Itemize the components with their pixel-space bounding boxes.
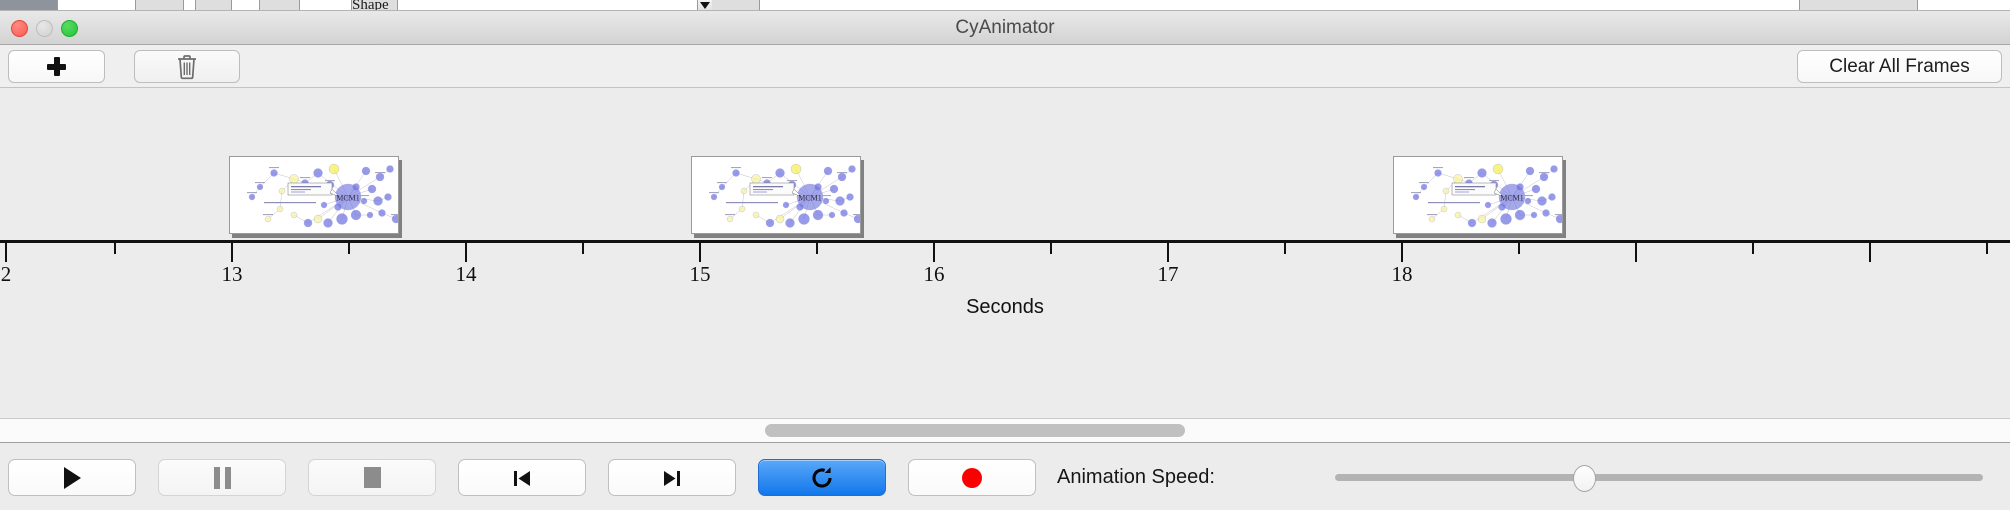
ruler-tick-label: 17 [1158, 262, 1179, 287]
horizontal-scrollbar[interactable] [765, 424, 1185, 437]
ruler-tick-minor [1518, 243, 1520, 254]
loop-icon [809, 465, 835, 491]
frame-thumbnail[interactable]: MCM1 [229, 156, 399, 234]
animation-speed-slider[interactable] [1335, 459, 1983, 496]
toolbar: Clear All Frames [0, 45, 2010, 88]
ruler-tick-minor [1986, 243, 1988, 254]
ruler-tick-minor [1284, 243, 1286, 254]
scroll-track[interactable] [0, 419, 2010, 443]
ruler-tick-major [1401, 243, 1403, 262]
ruler-baseline [0, 240, 2010, 243]
slider-knob[interactable] [1573, 465, 1596, 492]
ruler-tick-label: 2 [1, 262, 12, 287]
trash-icon [176, 54, 198, 80]
ruler-tick-major [699, 243, 701, 262]
skip-back-button[interactable] [458, 459, 586, 496]
axis-title: Seconds [0, 296, 2010, 319]
ruler-tick-label: 13 [222, 262, 243, 287]
loop-button[interactable] [758, 459, 886, 496]
skip-forward-icon [660, 466, 684, 490]
ruler-tick-major [1635, 243, 1637, 262]
record-icon [960, 466, 984, 490]
ruler-tick-minor [582, 243, 584, 254]
window-title: CyAnimator [0, 11, 2010, 45]
pause-button[interactable] [158, 459, 286, 496]
frame-thumbnail[interactable]: MCM1 [691, 156, 861, 234]
stop-button[interactable] [308, 459, 436, 496]
delete-frame-button[interactable] [134, 50, 240, 83]
ruler-tick-major [5, 243, 7, 262]
ruler-tick-minor [114, 243, 116, 254]
stop-icon [364, 467, 381, 488]
ruler-tick-major [1869, 243, 1871, 262]
title-bar: CyAnimator [0, 11, 2010, 45]
timeline-panel[interactable]: MCM1MCM1MCM1 2131415161718 Seconds [0, 88, 2010, 419]
skip-forward-button[interactable] [608, 459, 736, 496]
pause-icon [214, 467, 231, 489]
animation-speed-label: Animation Speed: [1057, 459, 1215, 496]
cyanimator-window: Shape CyAnimator Clear All Frames MCM1MC… [0, 0, 2010, 510]
network-graph: MCM1 [692, 157, 861, 234]
ruler-tick-minor [816, 243, 818, 254]
play-icon [64, 467, 81, 489]
clear-frames-button[interactable]: Clear All Frames [1797, 50, 2002, 83]
background-window-label: Shape [352, 0, 389, 11]
add-frame-button[interactable] [8, 50, 105, 83]
frame-thumbnail[interactable]: MCM1 [1393, 156, 1563, 234]
skip-back-icon [510, 466, 534, 490]
ruler-tick-label: 14 [456, 262, 477, 287]
network-graph: MCM1 [230, 157, 399, 234]
slider-track [1335, 474, 1983, 481]
ruler-tick-minor [1050, 243, 1052, 254]
ruler-tick-minor [1752, 243, 1754, 254]
timeline-ruler: 2131415161718 Seconds [0, 240, 2010, 340]
svg-text:MCM1: MCM1 [798, 194, 822, 203]
ruler-tick-label: 16 [924, 262, 945, 287]
playback-controls: Animation Speed: [0, 444, 2010, 510]
svg-text:MCM1: MCM1 [336, 194, 360, 203]
ruler-tick-major [231, 243, 233, 262]
ruler-tick-minor [348, 243, 350, 254]
svg-text:MCM1: MCM1 [1500, 194, 1524, 203]
ruler-tick-major [1167, 243, 1169, 262]
background-window-strip: Shape [0, 0, 2010, 11]
ruler-tick-label: 15 [690, 262, 711, 287]
record-button[interactable] [908, 459, 1036, 496]
ruler-tick-major [933, 243, 935, 262]
plus-icon [47, 57, 66, 76]
ruler-tick-major [465, 243, 467, 262]
ruler-tick-label: 18 [1392, 262, 1413, 287]
play-button[interactable] [8, 459, 136, 496]
network-graph: MCM1 [1394, 157, 1563, 234]
